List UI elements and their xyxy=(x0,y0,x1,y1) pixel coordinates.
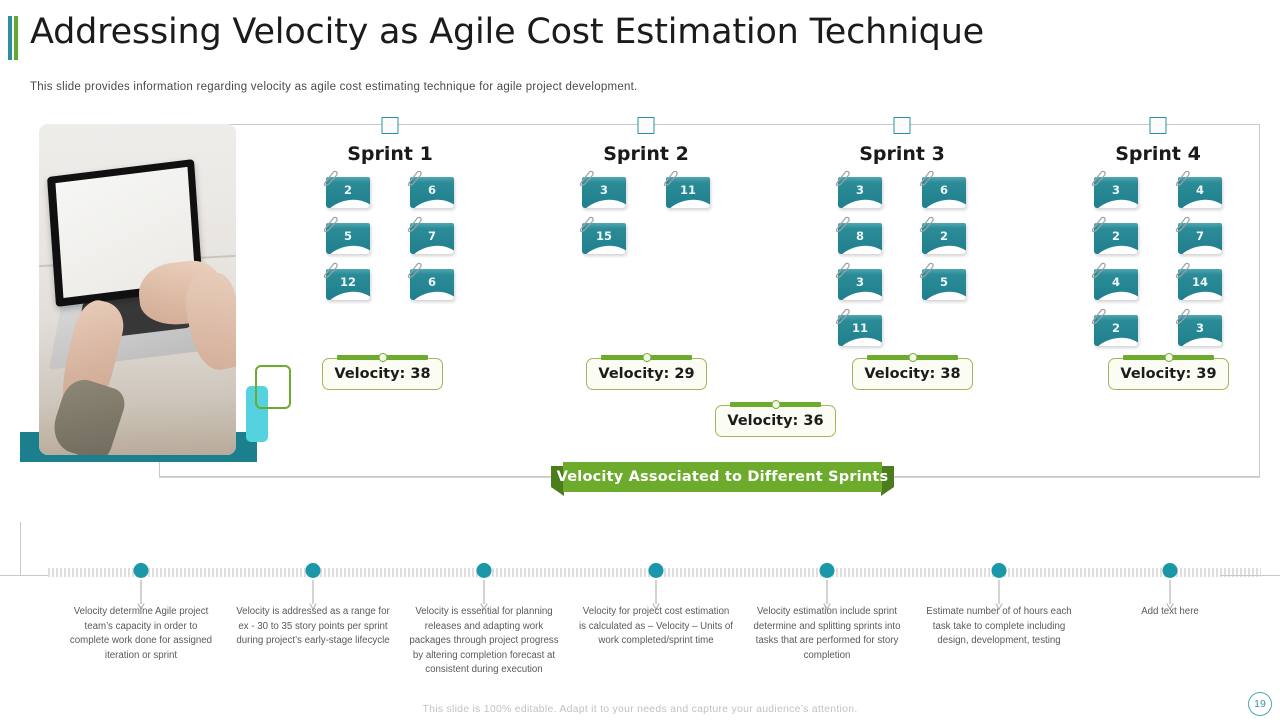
title-accent-bar-teal xyxy=(8,16,12,60)
velocity-box-label: Velocity: 29 xyxy=(587,359,706,389)
card-row: 311 xyxy=(536,174,756,220)
card-swoosh xyxy=(922,290,966,300)
timeline-dot xyxy=(820,563,835,578)
story-point-card[interactable]: 7 xyxy=(1178,220,1222,254)
story-point-card[interactable]: 7 xyxy=(410,220,454,254)
story-point-card[interactable]: 6 xyxy=(410,266,454,300)
story-point-card[interactable]: 5 xyxy=(922,266,966,300)
paperclip-icon xyxy=(578,214,594,232)
paperclip-icon xyxy=(834,260,850,278)
story-point-cards: 342741423 xyxy=(1048,174,1268,358)
card-row: 34 xyxy=(1048,174,1268,220)
paperclip-icon xyxy=(1174,306,1190,324)
story-point-card[interactable]: 2 xyxy=(326,174,370,208)
timeline-corner-horizontal xyxy=(0,575,48,576)
timeline-item-text: Velocity for project cost estimation is … xyxy=(579,605,733,649)
card-row: 126 xyxy=(280,266,500,312)
story-point-card[interactable]: 15 xyxy=(582,220,626,254)
story-point-card[interactable]: 3 xyxy=(1178,312,1222,346)
card-swoosh xyxy=(922,198,966,208)
card-swoosh xyxy=(1094,244,1138,254)
card-row: 27 xyxy=(1048,220,1268,266)
velocity-box-label: Velocity: 38 xyxy=(853,359,972,389)
story-point-card[interactable]: 6 xyxy=(410,174,454,208)
paperclip-icon xyxy=(1174,168,1190,186)
timeline-item-text: Add text here xyxy=(1093,605,1247,620)
footer-note: This slide is 100% editable. Adapt it to… xyxy=(0,703,1280,715)
story-point-card[interactable]: 12 xyxy=(326,266,370,300)
card-swoosh xyxy=(326,244,370,254)
card-row: 36 xyxy=(792,174,1012,220)
card-swoosh xyxy=(410,290,454,300)
story-point-card[interactable]: 4 xyxy=(1178,174,1222,208)
connector-square-icon xyxy=(638,117,655,134)
title-accent-bar-green xyxy=(14,16,18,60)
story-point-card[interactable]: 4 xyxy=(1094,266,1138,300)
velocity-box-extra[interactable]: Velocity: 36 xyxy=(715,405,836,437)
story-point-card[interactable]: 11 xyxy=(838,312,882,346)
velocity-box-label: Velocity: 38 xyxy=(323,359,442,389)
card-swoosh xyxy=(838,244,882,254)
card-swoosh xyxy=(1178,198,1222,208)
card-swoosh xyxy=(838,336,882,346)
laptop-photo xyxy=(39,124,236,455)
connector-square-icon xyxy=(382,117,399,134)
paperclip-icon xyxy=(918,260,934,278)
page-subtitle: This slide provides information regardin… xyxy=(30,81,638,93)
timeline-dot xyxy=(134,563,149,578)
card-swoosh xyxy=(326,198,370,208)
card-swoosh xyxy=(410,244,454,254)
card-row: 23 xyxy=(1048,312,1268,358)
paperclip-icon xyxy=(918,214,934,232)
story-point-card[interactable]: 3 xyxy=(582,174,626,208)
paperclip-icon xyxy=(1090,214,1106,232)
story-point-cards: 2657126 xyxy=(280,174,500,312)
paperclip-icon xyxy=(662,168,678,186)
sprint-title: Sprint 2 xyxy=(536,143,756,165)
card-row: 26 xyxy=(280,174,500,220)
timeline-item-text: Velocity determine Agile project team’s … xyxy=(64,605,218,663)
story-point-card[interactable]: 14 xyxy=(1178,266,1222,300)
sprint-title: Sprint 3 xyxy=(792,143,1012,165)
paperclip-icon xyxy=(322,260,338,278)
timeline-dot xyxy=(992,563,1007,578)
card-row: 57 xyxy=(280,220,500,266)
story-point-card[interactable]: 2 xyxy=(1094,220,1138,254)
card-swoosh xyxy=(326,290,370,300)
paperclip-icon xyxy=(834,168,850,186)
card-row: 35 xyxy=(792,266,1012,312)
paperclip-icon xyxy=(834,214,850,232)
card-swoosh xyxy=(838,290,882,300)
card-slot-empty xyxy=(922,312,966,346)
velocity-box-label: Velocity: 36 xyxy=(716,406,835,436)
decorative-green-square xyxy=(255,365,291,409)
timeline-item-text: Estimate number of of hours each task ta… xyxy=(922,605,1076,649)
velocity-box-sprint-2[interactable]: Velocity: 29 xyxy=(586,358,707,390)
story-point-card[interactable]: 8 xyxy=(838,220,882,254)
story-point-card[interactable]: 3 xyxy=(838,266,882,300)
timeline-corner-vertical xyxy=(20,522,21,575)
paperclip-icon xyxy=(834,306,850,324)
velocity-box-sprint-1[interactable]: Velocity: 38 xyxy=(322,358,443,390)
timeline-dot xyxy=(306,563,321,578)
paperclip-icon xyxy=(1090,260,1106,278)
story-point-cards: 31115 xyxy=(536,174,756,266)
paperclip-icon xyxy=(1174,260,1190,278)
story-point-card[interactable]: 11 xyxy=(666,174,710,208)
card-swoosh xyxy=(666,198,710,208)
paperclip-icon xyxy=(406,260,422,278)
card-swoosh xyxy=(410,198,454,208)
sprint-title: Sprint 1 xyxy=(280,143,500,165)
paperclip-icon xyxy=(1090,306,1106,324)
card-row: 414 xyxy=(1048,266,1268,312)
story-point-card[interactable]: 3 xyxy=(1094,174,1138,208)
card-swoosh xyxy=(582,244,626,254)
timeline-item-text: Velocity is addressed as a range for ex … xyxy=(236,605,390,649)
story-point-card[interactable]: 2 xyxy=(1094,312,1138,346)
card-swoosh xyxy=(1178,244,1222,254)
sprint-title: Sprint 4 xyxy=(1048,143,1268,165)
timeline-dot xyxy=(477,563,492,578)
paperclip-icon xyxy=(578,168,594,186)
story-point-card[interactable]: 5 xyxy=(326,220,370,254)
connector-square-icon xyxy=(1150,117,1167,134)
timeline-dot xyxy=(649,563,664,578)
card-swoosh xyxy=(1094,198,1138,208)
card-swoosh xyxy=(582,198,626,208)
connector-square-icon xyxy=(894,117,911,134)
story-point-card[interactable]: 2 xyxy=(922,220,966,254)
page-title: Addressing Velocity as Agile Cost Estima… xyxy=(30,12,984,52)
paperclip-icon xyxy=(322,168,338,186)
card-swoosh xyxy=(922,244,966,254)
card-swoosh xyxy=(1178,290,1222,300)
banner-velocity-associated[interactable]: Velocity Associated to Different Sprints xyxy=(551,462,894,492)
card-row: 11 xyxy=(792,312,1012,358)
story-point-card[interactable]: 3 xyxy=(838,174,882,208)
paperclip-icon xyxy=(322,214,338,232)
story-point-card[interactable]: 6 xyxy=(922,174,966,208)
paperclip-icon xyxy=(406,168,422,186)
page-number-badge: 19 xyxy=(1248,692,1272,716)
card-swoosh xyxy=(838,198,882,208)
timeline-item-text: Velocity is essential for planning relea… xyxy=(407,605,561,678)
timeline-item-text: Velocity estimation include sprint deter… xyxy=(750,605,904,663)
card-row: 82 xyxy=(792,220,1012,266)
card-swoosh xyxy=(1178,336,1222,346)
velocity-box-sprint-4[interactable]: Velocity: 39 xyxy=(1108,358,1229,390)
banner-label: Velocity Associated to Different Sprints xyxy=(551,462,894,492)
paperclip-icon xyxy=(406,214,422,232)
timeline-tail xyxy=(1220,575,1280,576)
paperclip-icon xyxy=(1174,214,1190,232)
story-point-cards: 36823511 xyxy=(792,174,1012,358)
card-slot-empty xyxy=(666,220,710,254)
card-swoosh xyxy=(1094,290,1138,300)
paperclip-icon xyxy=(1090,168,1106,186)
velocity-box-sprint-3[interactable]: Velocity: 38 xyxy=(852,358,973,390)
card-row: 15 xyxy=(536,220,756,266)
paperclip-icon xyxy=(918,168,934,186)
card-swoosh xyxy=(1094,336,1138,346)
timeline-dot xyxy=(1163,563,1178,578)
velocity-box-label: Velocity: 39 xyxy=(1109,359,1228,389)
